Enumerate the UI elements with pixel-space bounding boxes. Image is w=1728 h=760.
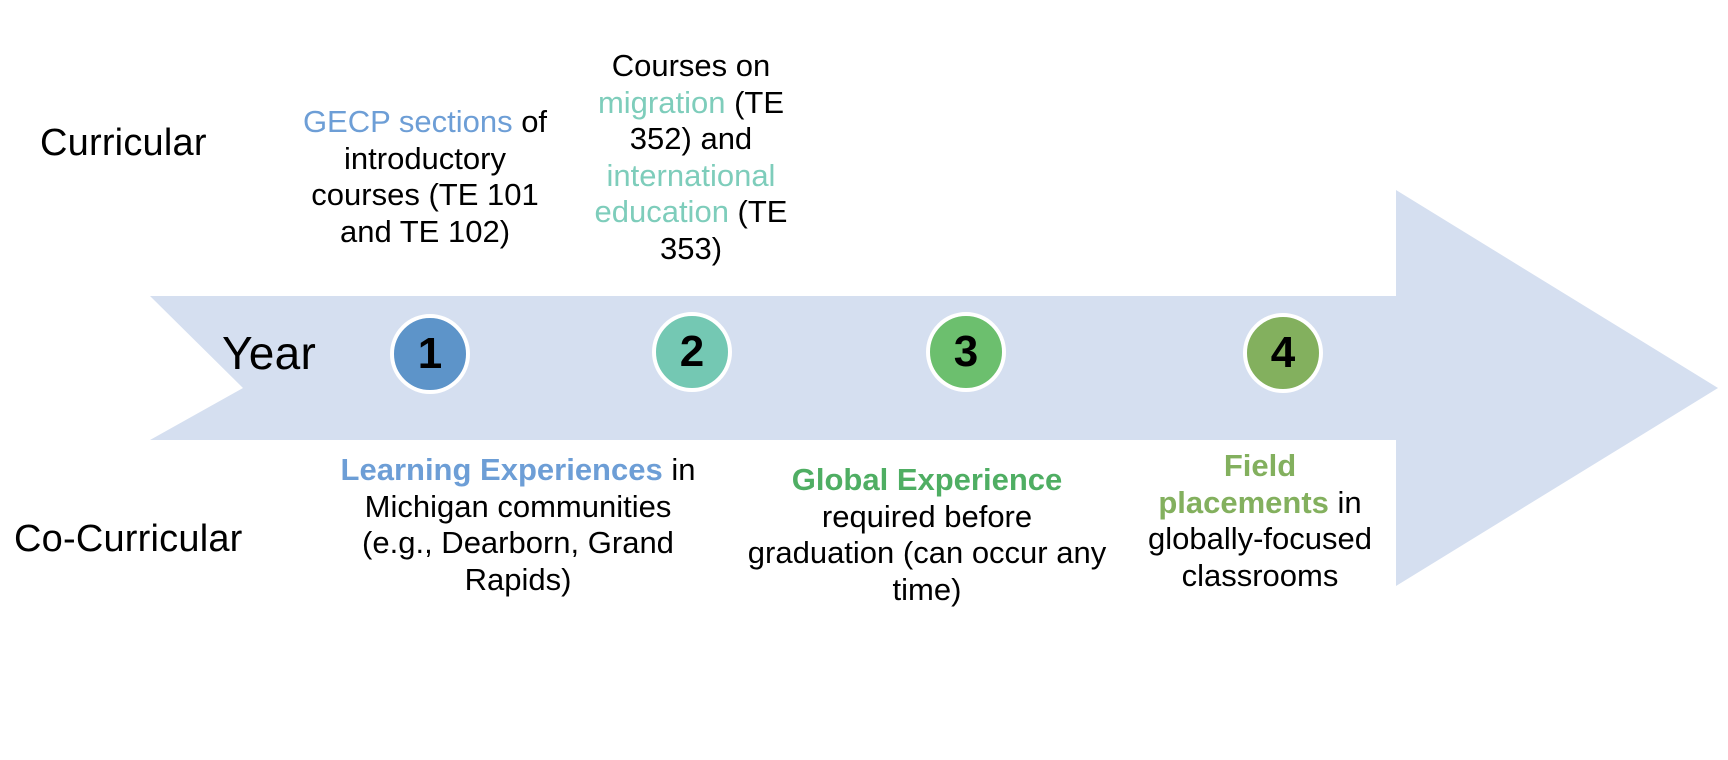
co-curricular-note-year-3: Global Experience required before gradua… <box>746 462 1108 608</box>
year-marker-1-number: 1 <box>418 332 442 376</box>
co-curricular-note-year-3-body: required before graduation (can occur an… <box>748 499 1106 607</box>
co-curricular-note-year-1: Learning Experiences in Michigan communi… <box>338 452 698 598</box>
curricular-note-year-2: Courses on migration (TE 352) and intern… <box>578 48 804 267</box>
co-curricular-note-year-4-highlight: Field placements <box>1158 448 1329 520</box>
year-marker-1[interactable]: 1 <box>390 314 470 394</box>
curricular-note-year-2-highlight-migration: migration <box>598 85 726 120</box>
timeline-axis-label: Year <box>222 326 316 380</box>
curricular-note-year-1: GECP sections of introductory courses (T… <box>296 104 554 250</box>
co-curricular-note-year-1-highlight: Learning Experiences <box>341 452 663 487</box>
curricular-note-year-1-highlight: GECP sections <box>303 104 513 139</box>
diagram-canvas: Curricular Co-Curricular Year 1 2 3 4 GE… <box>0 0 1728 760</box>
row-label-co-curricular: Co-Curricular <box>14 518 243 561</box>
year-marker-3-number: 3 <box>954 330 978 374</box>
co-curricular-note-year-4: Field placements in globally-focused cla… <box>1140 448 1380 594</box>
curricular-note-year-2-lead: Courses on <box>612 48 771 83</box>
co-curricular-note-year-3-highlight: Global Experience <box>792 462 1063 497</box>
year-marker-2-number: 2 <box>680 330 704 374</box>
timeline-arrow-band <box>0 0 1728 760</box>
year-marker-3[interactable]: 3 <box>926 312 1006 392</box>
year-marker-2[interactable]: 2 <box>652 312 732 392</box>
year-marker-4-number: 4 <box>1271 331 1295 375</box>
year-marker-4[interactable]: 4 <box>1243 313 1323 393</box>
row-label-curricular: Curricular <box>40 122 207 165</box>
